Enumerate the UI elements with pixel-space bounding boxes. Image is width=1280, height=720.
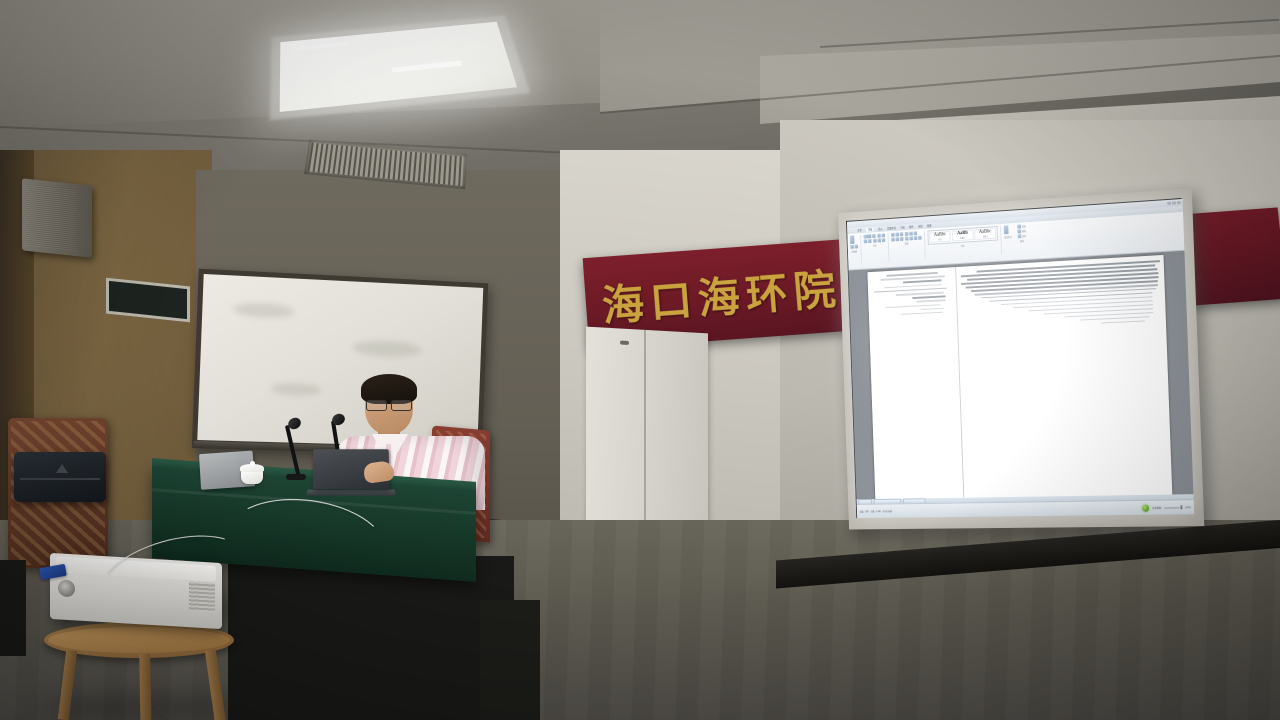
document-text-body[interactable]: [956, 255, 1172, 503]
projector-lens-icon: [58, 579, 75, 597]
style-name-label: 正文: [938, 238, 942, 241]
conference-room-photo: 海口海环院环 文件: [0, 0, 1280, 720]
foreground-shadow-mass: [480, 600, 540, 720]
antivirus-shield-icon[interactable]: [1143, 504, 1150, 511]
ribbon-group-label: 编辑: [1018, 239, 1027, 243]
lens-right: [391, 400, 412, 411]
tab-review[interactable]: 审阅: [918, 224, 923, 228]
multilevel-list-icon[interactable]: [900, 232, 904, 236]
word-count[interactable]: 字数: 2,480: [870, 509, 880, 513]
shrink-font-icon[interactable]: [881, 233, 885, 237]
align-left-icon[interactable]: [891, 238, 895, 242]
justify-icon[interactable]: [905, 237, 909, 241]
italic-icon[interactable]: [868, 239, 872, 243]
numbered-list-icon[interactable]: [895, 232, 899, 236]
ribbon-group-clipboard[interactable]: 剪贴板: [850, 235, 862, 264]
view-button-print-layout[interactable]: 页面视图: [1152, 506, 1161, 510]
text-color-icon[interactable]: [882, 238, 886, 242]
door-knob-icon[interactable]: [620, 340, 629, 345]
status-left-group: 页面: 1/80 字数: 2,480 中文(中国): [859, 506, 1139, 513]
bold-icon[interactable]: [864, 239, 868, 243]
cut-icon[interactable]: [850, 245, 854, 249]
screen-surface: 文件 开始 插入 页面布局 引用 邮件 审阅 视图: [847, 199, 1194, 518]
shading-icon[interactable]: [914, 236, 918, 240]
eyeglasses-icon: [366, 400, 412, 409]
document-page[interactable]: [868, 255, 1173, 505]
ribbon-group-styles[interactable]: AaBbc 正文 AaBb 标题 1 AaBbc 标题 2: [928, 226, 1003, 259]
find-label: 查找: [1022, 224, 1026, 228]
copy-icon[interactable]: [855, 245, 859, 249]
font-size-dropdown[interactable]: [872, 234, 876, 238]
ribbon-group-paragraph[interactable]: 段落: [891, 231, 926, 262]
change-styles-icon[interactable]: [1004, 225, 1009, 234]
bag-zipper: [20, 478, 100, 480]
stool-leg: [58, 650, 77, 720]
tab-references[interactable]: 引用: [900, 225, 905, 229]
close-button[interactable]: [1177, 201, 1181, 204]
door-seam: [644, 330, 646, 552]
style-chip-heading1[interactable]: AaBb 标题 1: [952, 230, 974, 241]
ribbon-group-editing[interactable]: 查找 替换 选择 编辑: [1017, 224, 1029, 254]
borders-icon[interactable]: [918, 236, 922, 240]
wall-speaker-icon: [22, 178, 92, 257]
replace-label: 替换: [1022, 229, 1026, 233]
document-canvas[interactable]: [849, 251, 1194, 505]
teacup-knob: [250, 461, 255, 466]
maximize-button[interactable]: [1172, 201, 1176, 204]
ribbon-group-font[interactable]: 字体: [864, 233, 890, 263]
word-application-window[interactable]: 文件 开始 插入 页面布局 引用 邮件 审阅 视图: [847, 199, 1194, 518]
lidded-teacup: [240, 462, 264, 484]
zoom-slider[interactable]: [1164, 505, 1182, 509]
ribbon-group-change-styles[interactable]: 更改样式: [1004, 225, 1016, 255]
replace-icon[interactable]: [1017, 229, 1021, 233]
increase-indent-icon[interactable]: [909, 232, 913, 236]
find-icon[interactable]: [1017, 225, 1021, 229]
stool-seat-rim: [48, 627, 230, 653]
zoom-track[interactable]: [1164, 507, 1179, 508]
sort-icon[interactable]: [913, 231, 917, 235]
laptop-bag: [14, 452, 106, 502]
page-indicator[interactable]: 页面: 1/80: [859, 509, 868, 513]
paste-icon[interactable]: [850, 235, 855, 244]
laptop-keyboard[interactable]: [306, 490, 395, 496]
style-name-label: 标题 2: [983, 235, 988, 238]
tab-insert[interactable]: 插入: [878, 227, 883, 231]
bullet-list-icon[interactable]: [891, 233, 895, 237]
language-indicator[interactable]: 中文(中国): [882, 509, 892, 513]
zoom-knob[interactable]: [1180, 505, 1182, 509]
corner-dark-object: [0, 560, 26, 656]
select-icon[interactable]: [1017, 234, 1021, 238]
tab-home[interactable]: 开始: [866, 228, 874, 232]
ribbon-group-label: 字体: [864, 243, 885, 248]
align-right-icon[interactable]: [900, 237, 904, 241]
speaker-grille: [26, 184, 76, 251]
grow-font-icon[interactable]: [877, 234, 881, 238]
projection-screen: 文件 开始 插入 页面布局 引用 邮件 审阅 视图: [838, 188, 1204, 529]
bag-logo-icon: [56, 464, 68, 473]
ribbon-group-label: 剪贴板: [850, 249, 858, 253]
underline-icon[interactable]: [873, 239, 877, 243]
style-chip-normal[interactable]: AaBbc 正文: [929, 231, 950, 242]
tab-view[interactable]: 视图: [927, 224, 932, 228]
font-family-dropdown[interactable]: [864, 234, 872, 238]
style-name-label: 标题 1: [960, 236, 965, 239]
zoom-level[interactable]: 100%: [1185, 506, 1191, 509]
ribbon-group-label: 段落: [891, 241, 922, 247]
decrease-indent-icon[interactable]: [904, 232, 908, 236]
minimize-button[interactable]: [1167, 202, 1171, 205]
select-label: 选择: [1022, 234, 1026, 238]
tab-mailings[interactable]: 邮件: [909, 225, 914, 229]
tab-file[interactable]: 文件: [857, 228, 862, 232]
strikethrough-icon[interactable]: [877, 238, 881, 242]
tab-page-layout[interactable]: 页面布局: [887, 226, 896, 230]
microphone-base: [286, 474, 306, 480]
style-chip-heading2[interactable]: AaBbc 标题 2: [974, 228, 996, 239]
line-spacing-icon[interactable]: [909, 236, 913, 240]
lens-left: [366, 400, 387, 411]
align-center-icon[interactable]: [896, 237, 900, 241]
outline-pane[interactable]: [868, 267, 965, 505]
change-styles-label: 更改样式: [1004, 235, 1012, 239]
